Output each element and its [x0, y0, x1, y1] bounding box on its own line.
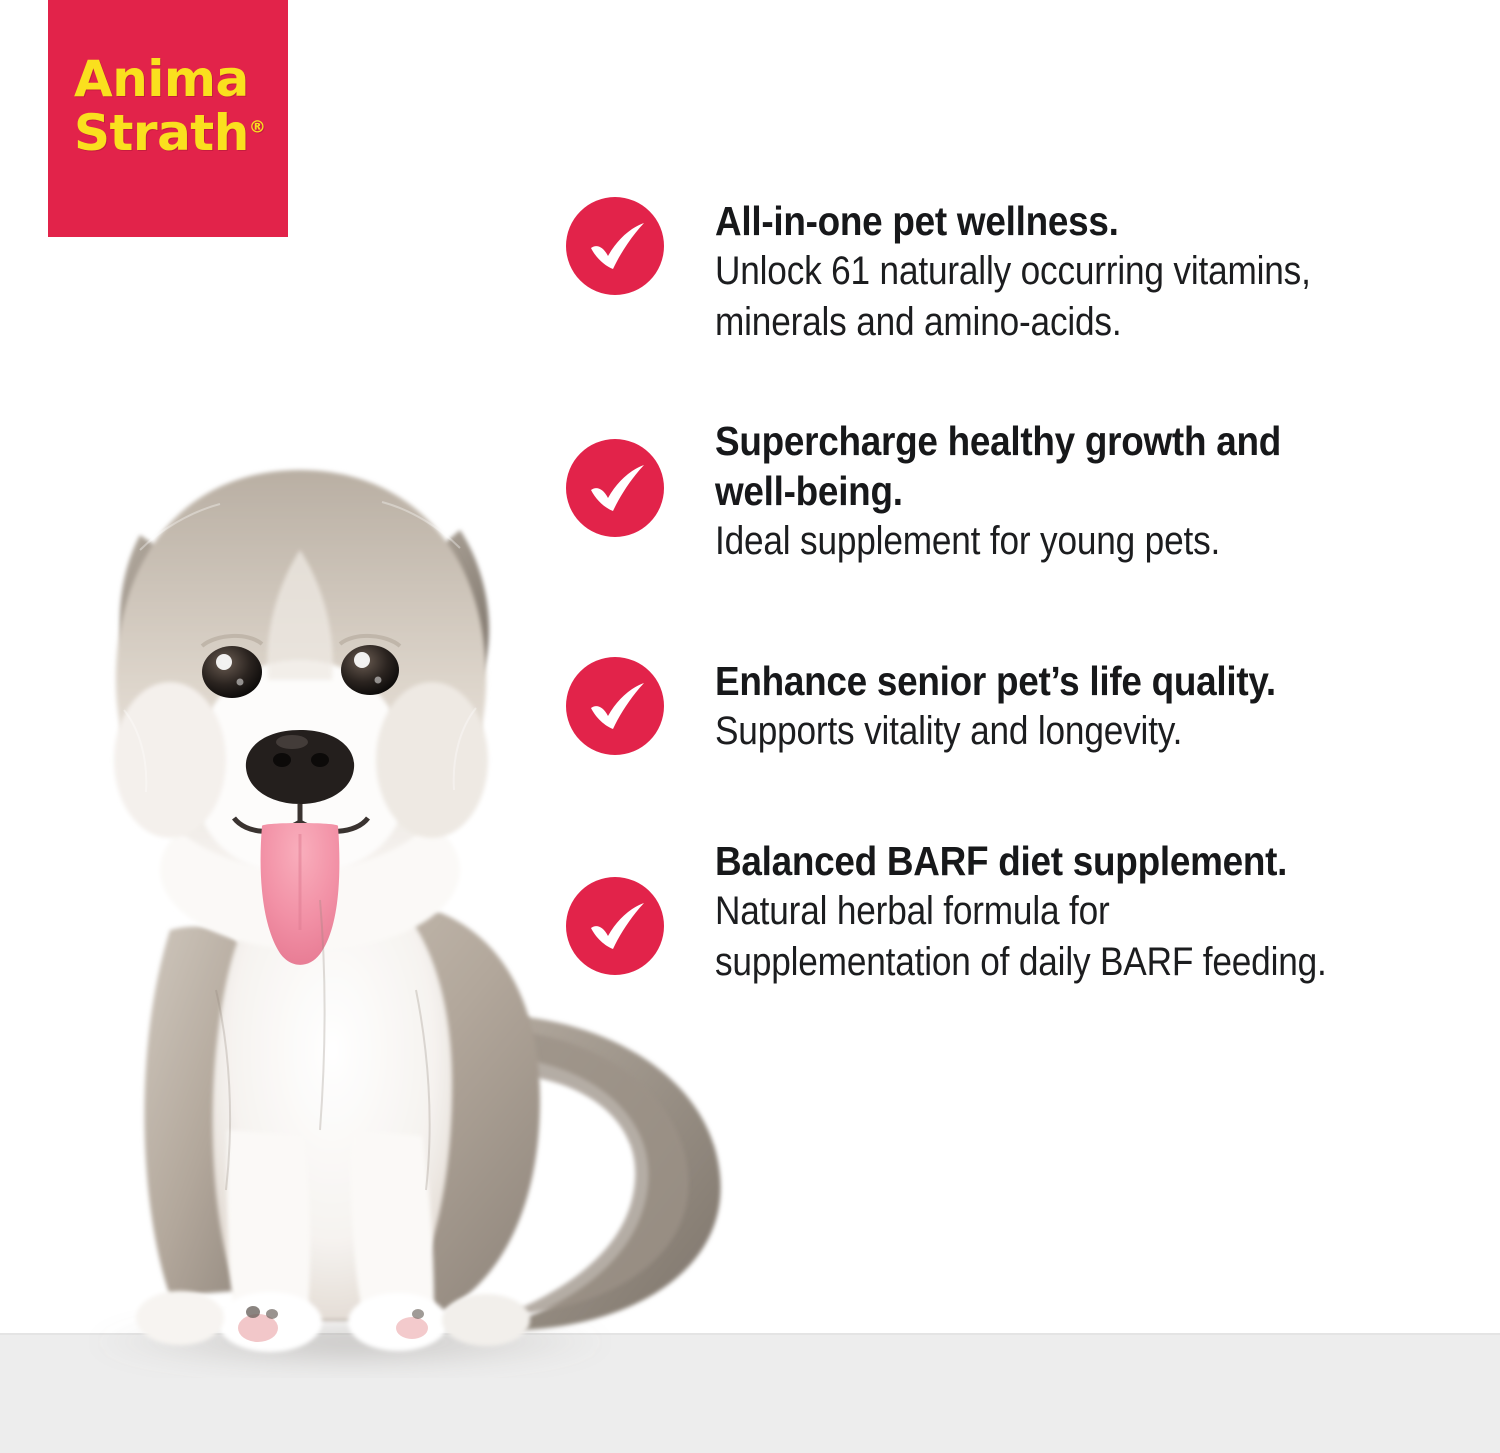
brand-name-line2: Strath — [74, 104, 249, 162]
benefit-title: Supercharge healthy growth and well-bein… — [715, 416, 1399, 516]
product-feature-panel: Anima Strath® — [0, 0, 1500, 1453]
benefit-title: Enhance senior pet’s life quality. — [715, 656, 1399, 706]
benefit-body: Unlock 61 naturally occurring vitamins, … — [715, 246, 1384, 348]
check-circle-icon — [565, 876, 665, 976]
benefit-body: Natural herbal formula for supplementati… — [715, 886, 1384, 988]
benefit-title: All-in-one pet wellness. — [715, 196, 1399, 246]
check-circle-icon — [565, 656, 665, 756]
registered-trademark-icon: ® — [249, 117, 266, 137]
puppy-image — [20, 430, 800, 1390]
benefit-body: Supports vitality and longevity. — [715, 706, 1384, 757]
check-circle-icon — [565, 196, 665, 296]
brand-name-line1: Anima — [74, 50, 249, 108]
benefit-body: Ideal supplement for young pets. — [715, 516, 1384, 567]
brand-logo: Anima Strath® — [48, 0, 288, 237]
check-circle-icon — [565, 438, 665, 538]
benefit-title: Balanced BARF diet supplement. — [715, 836, 1399, 886]
brand-logo-wordmark: Anima Strath® — [74, 52, 274, 160]
